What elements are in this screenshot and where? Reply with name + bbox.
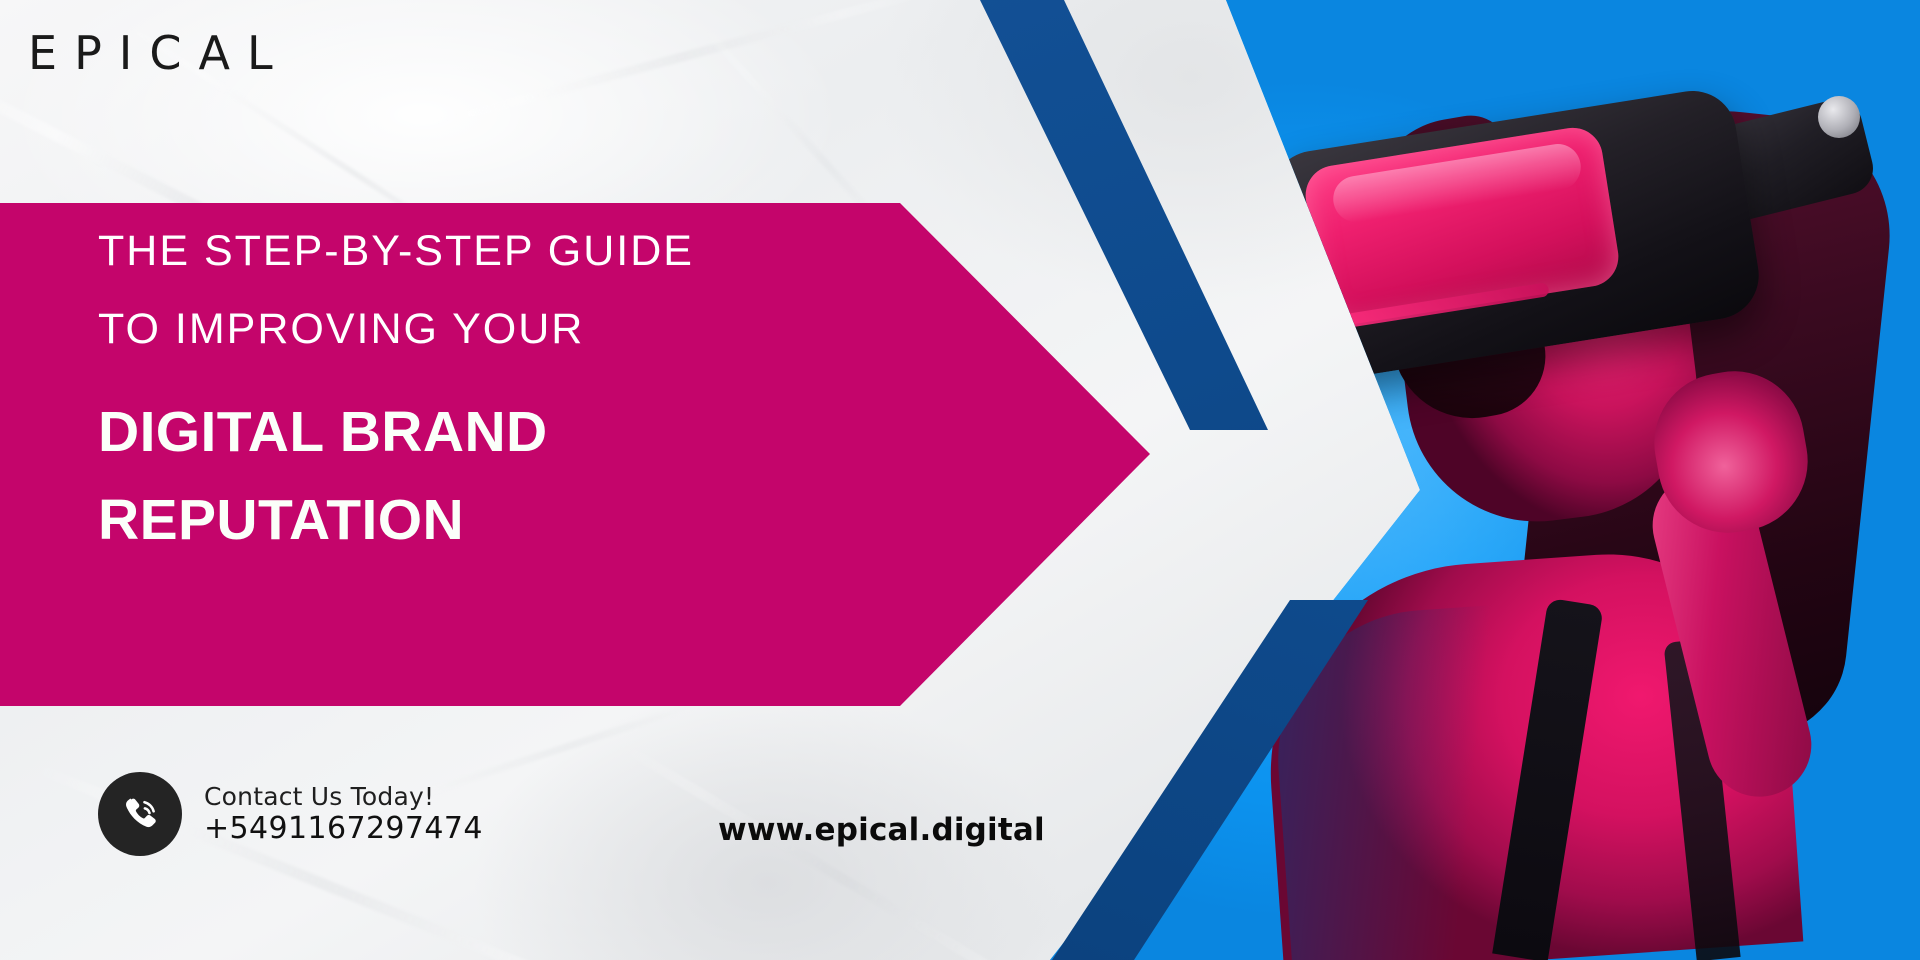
headline-group: THE STEP-BY-STEP GUIDE TO IMPROVING YOUR… (98, 212, 858, 564)
contact-label: Contact Us Today! (204, 782, 483, 812)
headline-line-1: THE STEP-BY-STEP GUIDE (98, 212, 858, 290)
headline-line-2: TO IMPROVING YOUR (98, 290, 858, 368)
vr-adjust-knob (1818, 96, 1860, 138)
contact-block[interactable]: Contact Us Today! +5491167297474 (98, 772, 483, 856)
brand-logo: EPICAL (28, 30, 290, 76)
marketing-banner: EPICAL THE STEP-BY-STEP GUIDE TO IMPROVI… (0, 0, 1920, 960)
website-url[interactable]: www.epical.digital (718, 812, 1045, 848)
headline-line-4: REPUTATION (98, 476, 858, 564)
contact-phone-number[interactable]: +5491167297474 (204, 811, 483, 846)
contact-text: Contact Us Today! +5491167297474 (204, 782, 483, 847)
phone-call-icon (98, 772, 182, 856)
headline-line-3: DIGITAL BRAND (98, 388, 858, 476)
